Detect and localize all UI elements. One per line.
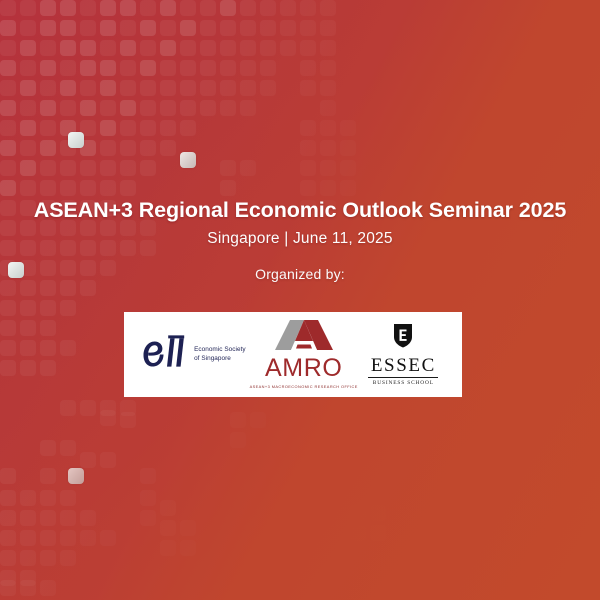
amro-wordmark: AMRO: [265, 356, 342, 381]
mosaic-square: [180, 40, 196, 56]
mosaic-square: [100, 410, 116, 426]
mosaic-square: [260, 40, 276, 56]
mosaic-square: [60, 490, 76, 506]
mosaic-square: [120, 412, 136, 428]
mosaic-square: [240, 160, 256, 176]
mosaic-square: [280, 0, 296, 16]
amro-mountain-icon: [275, 320, 333, 355]
mosaic-square: [40, 340, 56, 356]
mosaic-square: [80, 0, 96, 16]
mosaic-square: [20, 40, 36, 56]
mosaic-square: [100, 160, 116, 176]
mosaic-square: [100, 60, 116, 76]
mosaic-square: [0, 180, 16, 196]
mosaic-square: [220, 100, 236, 116]
mosaic-square: [300, 160, 316, 176]
mosaic-square: [100, 180, 116, 196]
mosaic-square: [20, 510, 36, 526]
mosaic-square: [60, 180, 76, 196]
logo-economic-society-of-singapore: Economic Society of Singapore: [138, 326, 251, 384]
mosaic-square: [160, 80, 176, 96]
mosaic-square: [120, 180, 136, 196]
mosaic-square: [60, 440, 76, 456]
mosaic-square: [20, 490, 36, 506]
mosaic-square: [160, 60, 176, 76]
organized-by-label: Organized by:: [0, 266, 600, 282]
mosaic-square: [60, 40, 76, 56]
mosaic-square: [200, 20, 216, 36]
mosaic-square: [20, 300, 36, 316]
mosaic-square: [140, 60, 156, 76]
mosaic-square: [20, 140, 36, 156]
mosaic-square: [0, 490, 16, 506]
mosaic-square: [160, 40, 176, 56]
mosaic-square: [100, 120, 116, 136]
mosaic-square: [300, 140, 316, 156]
mosaic-square: [160, 540, 176, 556]
mosaic-square: [120, 60, 136, 76]
mosaic-square-highlight: [68, 468, 84, 484]
mosaic-square: [240, 80, 256, 96]
mosaic-square: [40, 80, 56, 96]
mosaic-square: [280, 20, 296, 36]
mosaic-square: [120, 20, 136, 36]
mosaic-square: [160, 0, 176, 16]
mosaic-square: [160, 120, 176, 136]
mosaic-square: [20, 160, 36, 176]
mosaic-square: [180, 520, 196, 536]
mosaic-square: [140, 120, 156, 136]
decorative-square-mosaic: [0, 0, 600, 600]
mosaic-square: [60, 280, 76, 296]
mosaic-square: [20, 340, 36, 356]
mosaic-square: [60, 300, 76, 316]
mosaic-square: [20, 280, 36, 296]
mosaic-square: [120, 160, 136, 176]
mosaic-square: [220, 80, 236, 96]
mosaic-square: [20, 550, 36, 566]
mosaic-square: [60, 60, 76, 76]
mosaic-square: [40, 40, 56, 56]
ess-line-1: Economic Society: [194, 346, 246, 353]
mosaic-square: [180, 60, 196, 76]
mosaic-square-highlight: [180, 152, 196, 168]
mosaic-square: [180, 80, 196, 96]
mosaic-square: [0, 580, 16, 596]
organizer-logo-panel: Economic Society of Singapore AMRO ASEAN…: [124, 312, 462, 397]
mosaic-square: [300, 120, 316, 136]
mosaic-square: [320, 120, 336, 136]
mosaic-square: [40, 120, 56, 136]
mosaic-square: [240, 20, 256, 36]
mosaic-square: [140, 40, 156, 56]
mosaic-square: [180, 20, 196, 36]
mosaic-square: [370, 505, 386, 521]
mosaic-square: [80, 280, 96, 296]
mosaic-square: [0, 60, 16, 76]
mosaic-square: [120, 40, 136, 56]
mosaic-square: [300, 60, 316, 76]
mosaic-square: [80, 40, 96, 56]
mosaic-square: [0, 530, 16, 546]
mosaic-square: [340, 120, 356, 136]
mosaic-square: [230, 412, 246, 428]
mosaic-square: [20, 80, 36, 96]
mosaic-square: [300, 20, 316, 36]
mosaic-square: [40, 360, 56, 376]
mosaic-square: [0, 550, 16, 566]
mosaic-square: [60, 80, 76, 96]
mosaic-square: [230, 432, 246, 448]
mosaic-square: [80, 530, 96, 546]
ess-monogram-icon: [143, 335, 189, 374]
event-location-date: Singapore | June 11, 2025: [0, 230, 600, 248]
mosaic-square: [200, 0, 216, 16]
mosaic-square: [350, 525, 366, 541]
mosaic-square: [140, 20, 156, 36]
mosaic-square: [40, 550, 56, 566]
mosaic-square: [20, 0, 36, 16]
mosaic-square: [40, 180, 56, 196]
mosaic-square: [0, 468, 16, 484]
mosaic-square: [40, 280, 56, 296]
mosaic-square: [300, 40, 316, 56]
essec-shield-icon: [393, 323, 413, 353]
mosaic-square: [80, 100, 96, 116]
mosaic-square: [160, 520, 176, 536]
mosaic-square: [120, 120, 136, 136]
mosaic-square: [100, 452, 116, 468]
seminar-poster: ASEAN+3 Regional Economic Outlook Semina…: [0, 0, 600, 600]
mosaic-square: [140, 160, 156, 176]
mosaic-square: [200, 80, 216, 96]
mosaic-square: [140, 80, 156, 96]
mosaic-square: [140, 510, 156, 526]
mosaic-square: [240, 60, 256, 76]
mosaic-square: [60, 340, 76, 356]
mosaic-square: [340, 180, 356, 196]
mosaic-square: [40, 160, 56, 176]
mosaic-square: [320, 80, 336, 96]
mosaic-square: [40, 468, 56, 484]
mosaic-square: [140, 140, 156, 156]
mosaic-square: [40, 60, 56, 76]
mosaic-square: [120, 0, 136, 16]
mosaic-square: [20, 580, 36, 596]
mosaic-square: [0, 300, 16, 316]
mosaic-square: [350, 505, 366, 521]
essec-tagline: BUSINESS SCHOOL: [373, 380, 434, 386]
mosaic-square: [250, 412, 266, 428]
mosaic-square: [0, 280, 16, 296]
mosaic-square: [140, 468, 156, 484]
mosaic-square: [80, 400, 96, 416]
mosaic-square: [80, 160, 96, 176]
essec-divider: [368, 377, 438, 378]
mosaic-square: [40, 490, 56, 506]
mosaic-square: [240, 40, 256, 56]
mosaic-square: [60, 100, 76, 116]
mosaic-square: [200, 60, 216, 76]
mosaic-square: [60, 530, 76, 546]
logo-essec-business-school: ESSEC BUSINESS SCHOOL: [357, 323, 450, 386]
mosaic-square: [220, 20, 236, 36]
mosaic-square: [180, 120, 196, 136]
mosaic-square: [60, 550, 76, 566]
mosaic-square: [60, 400, 76, 416]
mosaic-square: [80, 20, 96, 36]
mosaic-square: [340, 140, 356, 156]
mosaic-square: [80, 60, 96, 76]
mosaic-square: [0, 340, 16, 356]
mosaic-square: [140, 100, 156, 116]
mosaic-square: [140, 490, 156, 506]
mosaic-square: [0, 360, 16, 376]
mosaic-square: [320, 140, 336, 156]
mosaic-square: [260, 80, 276, 96]
mosaic-square: [20, 120, 36, 136]
mosaic-square: [40, 440, 56, 456]
mosaic-square: [240, 100, 256, 116]
mosaic-square: [60, 160, 76, 176]
mosaic-square: [280, 40, 296, 56]
mosaic-square: [180, 540, 196, 556]
mosaic-square: [0, 20, 16, 36]
mosaic-square: [80, 180, 96, 196]
mosaic-square: [300, 80, 316, 96]
mosaic-square: [0, 40, 16, 56]
mosaic-square: [60, 20, 76, 36]
mosaic-square: [20, 100, 36, 116]
mosaic-square: [20, 60, 36, 76]
mosaic-square: [220, 60, 236, 76]
mosaic-square: [260, 60, 276, 76]
mosaic-square: [320, 40, 336, 56]
mosaic-square: [40, 530, 56, 546]
mosaic-square: [120, 80, 136, 96]
mosaic-square: [100, 100, 116, 116]
mosaic-square: [20, 20, 36, 36]
mosaic-square: [160, 500, 176, 516]
mosaic-square: [40, 20, 56, 36]
mosaic-square: [220, 180, 236, 196]
mosaic-square: [220, 160, 236, 176]
mosaic-square: [320, 20, 336, 36]
mosaic-square: [0, 140, 16, 156]
mosaic-square: [120, 100, 136, 116]
page-title: ASEAN+3 Regional Economic Outlook Semina…: [0, 198, 600, 223]
ess-wordmark: Economic Society of Singapore: [194, 346, 246, 362]
mosaic-square: [320, 100, 336, 116]
mosaic-square: [220, 40, 236, 56]
mosaic-square: [100, 530, 116, 546]
mosaic-square: [0, 100, 16, 116]
mosaic-square: [260, 0, 276, 16]
mosaic-square: [40, 580, 56, 596]
mosaic-square: [0, 120, 16, 136]
mosaic-square: [0, 80, 16, 96]
mosaic-square: [370, 525, 386, 541]
mosaic-square: [320, 160, 336, 176]
mosaic-square: [100, 140, 116, 156]
mosaic-square: [20, 360, 36, 376]
amro-tagline: ASEAN+3 MACROECONOMIC RESEARCH OFFICE: [250, 384, 358, 389]
mosaic-square: [0, 510, 16, 526]
mosaic-square: [320, 60, 336, 76]
mosaic-square: [40, 0, 56, 16]
mosaic-square: [320, 0, 336, 16]
mosaic-square: [100, 80, 116, 96]
mosaic-square: [240, 0, 256, 16]
mosaic-square: [0, 320, 16, 336]
mosaic-square: [80, 510, 96, 526]
mosaic-square: [40, 100, 56, 116]
mosaic-square: [160, 140, 176, 156]
mosaic-square: [320, 180, 336, 196]
logo-amro: AMRO ASEAN+3 MACROECONOMIC RESEARCH OFFI…: [251, 320, 357, 389]
mosaic-square: [100, 40, 116, 56]
mosaic-square: [20, 180, 36, 196]
mosaic-square: [180, 0, 196, 16]
mosaic-square: [260, 20, 276, 36]
mosaic-square: [80, 452, 96, 468]
mosaic-square: [340, 160, 356, 176]
mosaic-square: [300, 180, 316, 196]
mosaic-square: [0, 0, 16, 16]
mosaic-square-highlight: [68, 132, 84, 148]
mosaic-square: [100, 20, 116, 36]
mosaic-square: [20, 530, 36, 546]
mosaic-square: [120, 140, 136, 156]
mosaic-square: [160, 20, 176, 36]
essec-wordmark: ESSEC: [371, 356, 436, 375]
mosaic-square: [200, 40, 216, 56]
mosaic-square: [160, 100, 176, 116]
mosaic-square: [200, 100, 216, 116]
mosaic-square: [300, 0, 316, 16]
mosaic-square: [0, 160, 16, 176]
mosaic-square: [40, 300, 56, 316]
mosaic-square: [40, 510, 56, 526]
mosaic-square: [40, 320, 56, 336]
mosaic-square: [60, 0, 76, 16]
mosaic-square: [20, 320, 36, 336]
mosaic-square: [220, 0, 236, 16]
mosaic-square: [40, 140, 56, 156]
ess-line-2: of Singapore: [194, 355, 231, 362]
mosaic-square: [80, 80, 96, 96]
mosaic-square: [140, 0, 156, 16]
mosaic-square: [60, 510, 76, 526]
mosaic-square: [180, 100, 196, 116]
mosaic-square: [100, 0, 116, 16]
